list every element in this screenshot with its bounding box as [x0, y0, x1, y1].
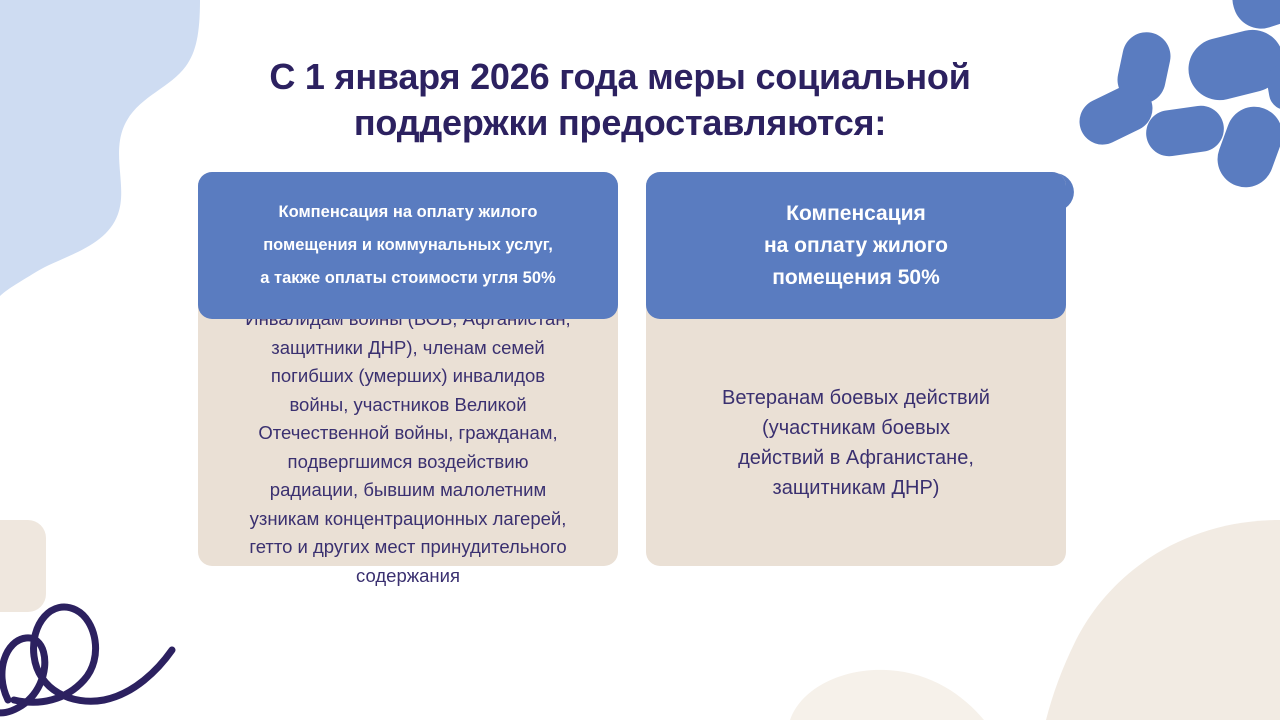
benefit-card-right-body: Ветеранам боевых действий (участникам бо…: [646, 319, 1066, 566]
benefit-card-left-body-line-2: защитники ДНР), членам семей: [245, 334, 570, 363]
benefit-card-right: Компенсация на оплату жилого помещения 5…: [646, 172, 1066, 566]
benefit-card-left-body-line-8: узникам концентрационных лагерей,: [245, 505, 570, 534]
benefit-card-left-body-text: Инвалидам войны (ВОВ, Афганистан, защитн…: [245, 305, 570, 590]
benefit-card-right-body-line-2: (участникам боевых: [722, 413, 990, 443]
benefit-card-left-body: Инвалидам войны (ВОВ, Афганистан, защитн…: [198, 319, 618, 566]
bottom-center-beige-hill: [790, 670, 984, 720]
benefit-card-left-header-line-3: а также оплаты стоимости угля 50%: [260, 262, 555, 295]
benefit-card-right-body-line-4: защитникам ДНР): [722, 473, 990, 503]
bottom-left-squiggle: [0, 607, 172, 713]
benefit-card-right-header-line-2: на оплату жилого: [764, 230, 948, 262]
benefit-card-right-header: Компенсация на оплату жилого помещения 5…: [646, 172, 1066, 319]
benefit-cards-container: Компенсация на оплату жилого помещения и…: [198, 172, 1066, 566]
bottom-right-beige-blob: [1046, 520, 1280, 720]
benefit-card-left-body-line-6: подвергшимся воздействию: [245, 448, 570, 477]
benefit-card-right-body-line-3: действий в Афганистане,: [722, 443, 990, 473]
benefit-card-left-body-line-7: радиации, бывшим малолетним: [245, 476, 570, 505]
benefit-card-left-body-line-4: войны, участников Великой: [245, 391, 570, 420]
benefit-card-left-header-line-2: помещения и коммунальных услуг,: [263, 229, 553, 262]
benefit-card-left-body-line-3: погибших (умерших) инвалидов: [245, 362, 570, 391]
benefit-card-left-header-line-1: Компенсация на оплату жилого: [279, 196, 538, 229]
presentation-slide: С 1 января 2026 года меры социальной под…: [0, 0, 1280, 720]
benefit-card-left-body-line-9: гетто и других мест принудительного: [245, 533, 570, 562]
benefit-card-left: Компенсация на оплату жилого помещения и…: [198, 172, 618, 566]
left-edge-beige-square: [0, 520, 46, 612]
top-left-wave-shape: [0, 0, 200, 296]
benefit-card-left-body-line-10: содержания: [245, 562, 570, 591]
benefit-card-right-header-line-3: помещения 50%: [772, 262, 940, 294]
page-title-line-2: поддержки предоставляются:: [180, 100, 1060, 146]
page-title: С 1 января 2026 года меры социальной под…: [180, 54, 1060, 146]
benefit-card-right-header-line-1: Компенсация: [786, 198, 926, 230]
benefit-card-left-body-line-5: Отечественной войны, гражданам,: [245, 419, 570, 448]
benefit-card-right-body-line-1: Ветеранам боевых действий: [722, 383, 990, 413]
benefit-card-left-header: Компенсация на оплату жилого помещения и…: [198, 172, 618, 319]
benefit-card-right-body-text: Ветеранам боевых действий (участникам бо…: [722, 383, 990, 503]
page-title-line-1: С 1 января 2026 года меры социальной: [180, 54, 1060, 100]
